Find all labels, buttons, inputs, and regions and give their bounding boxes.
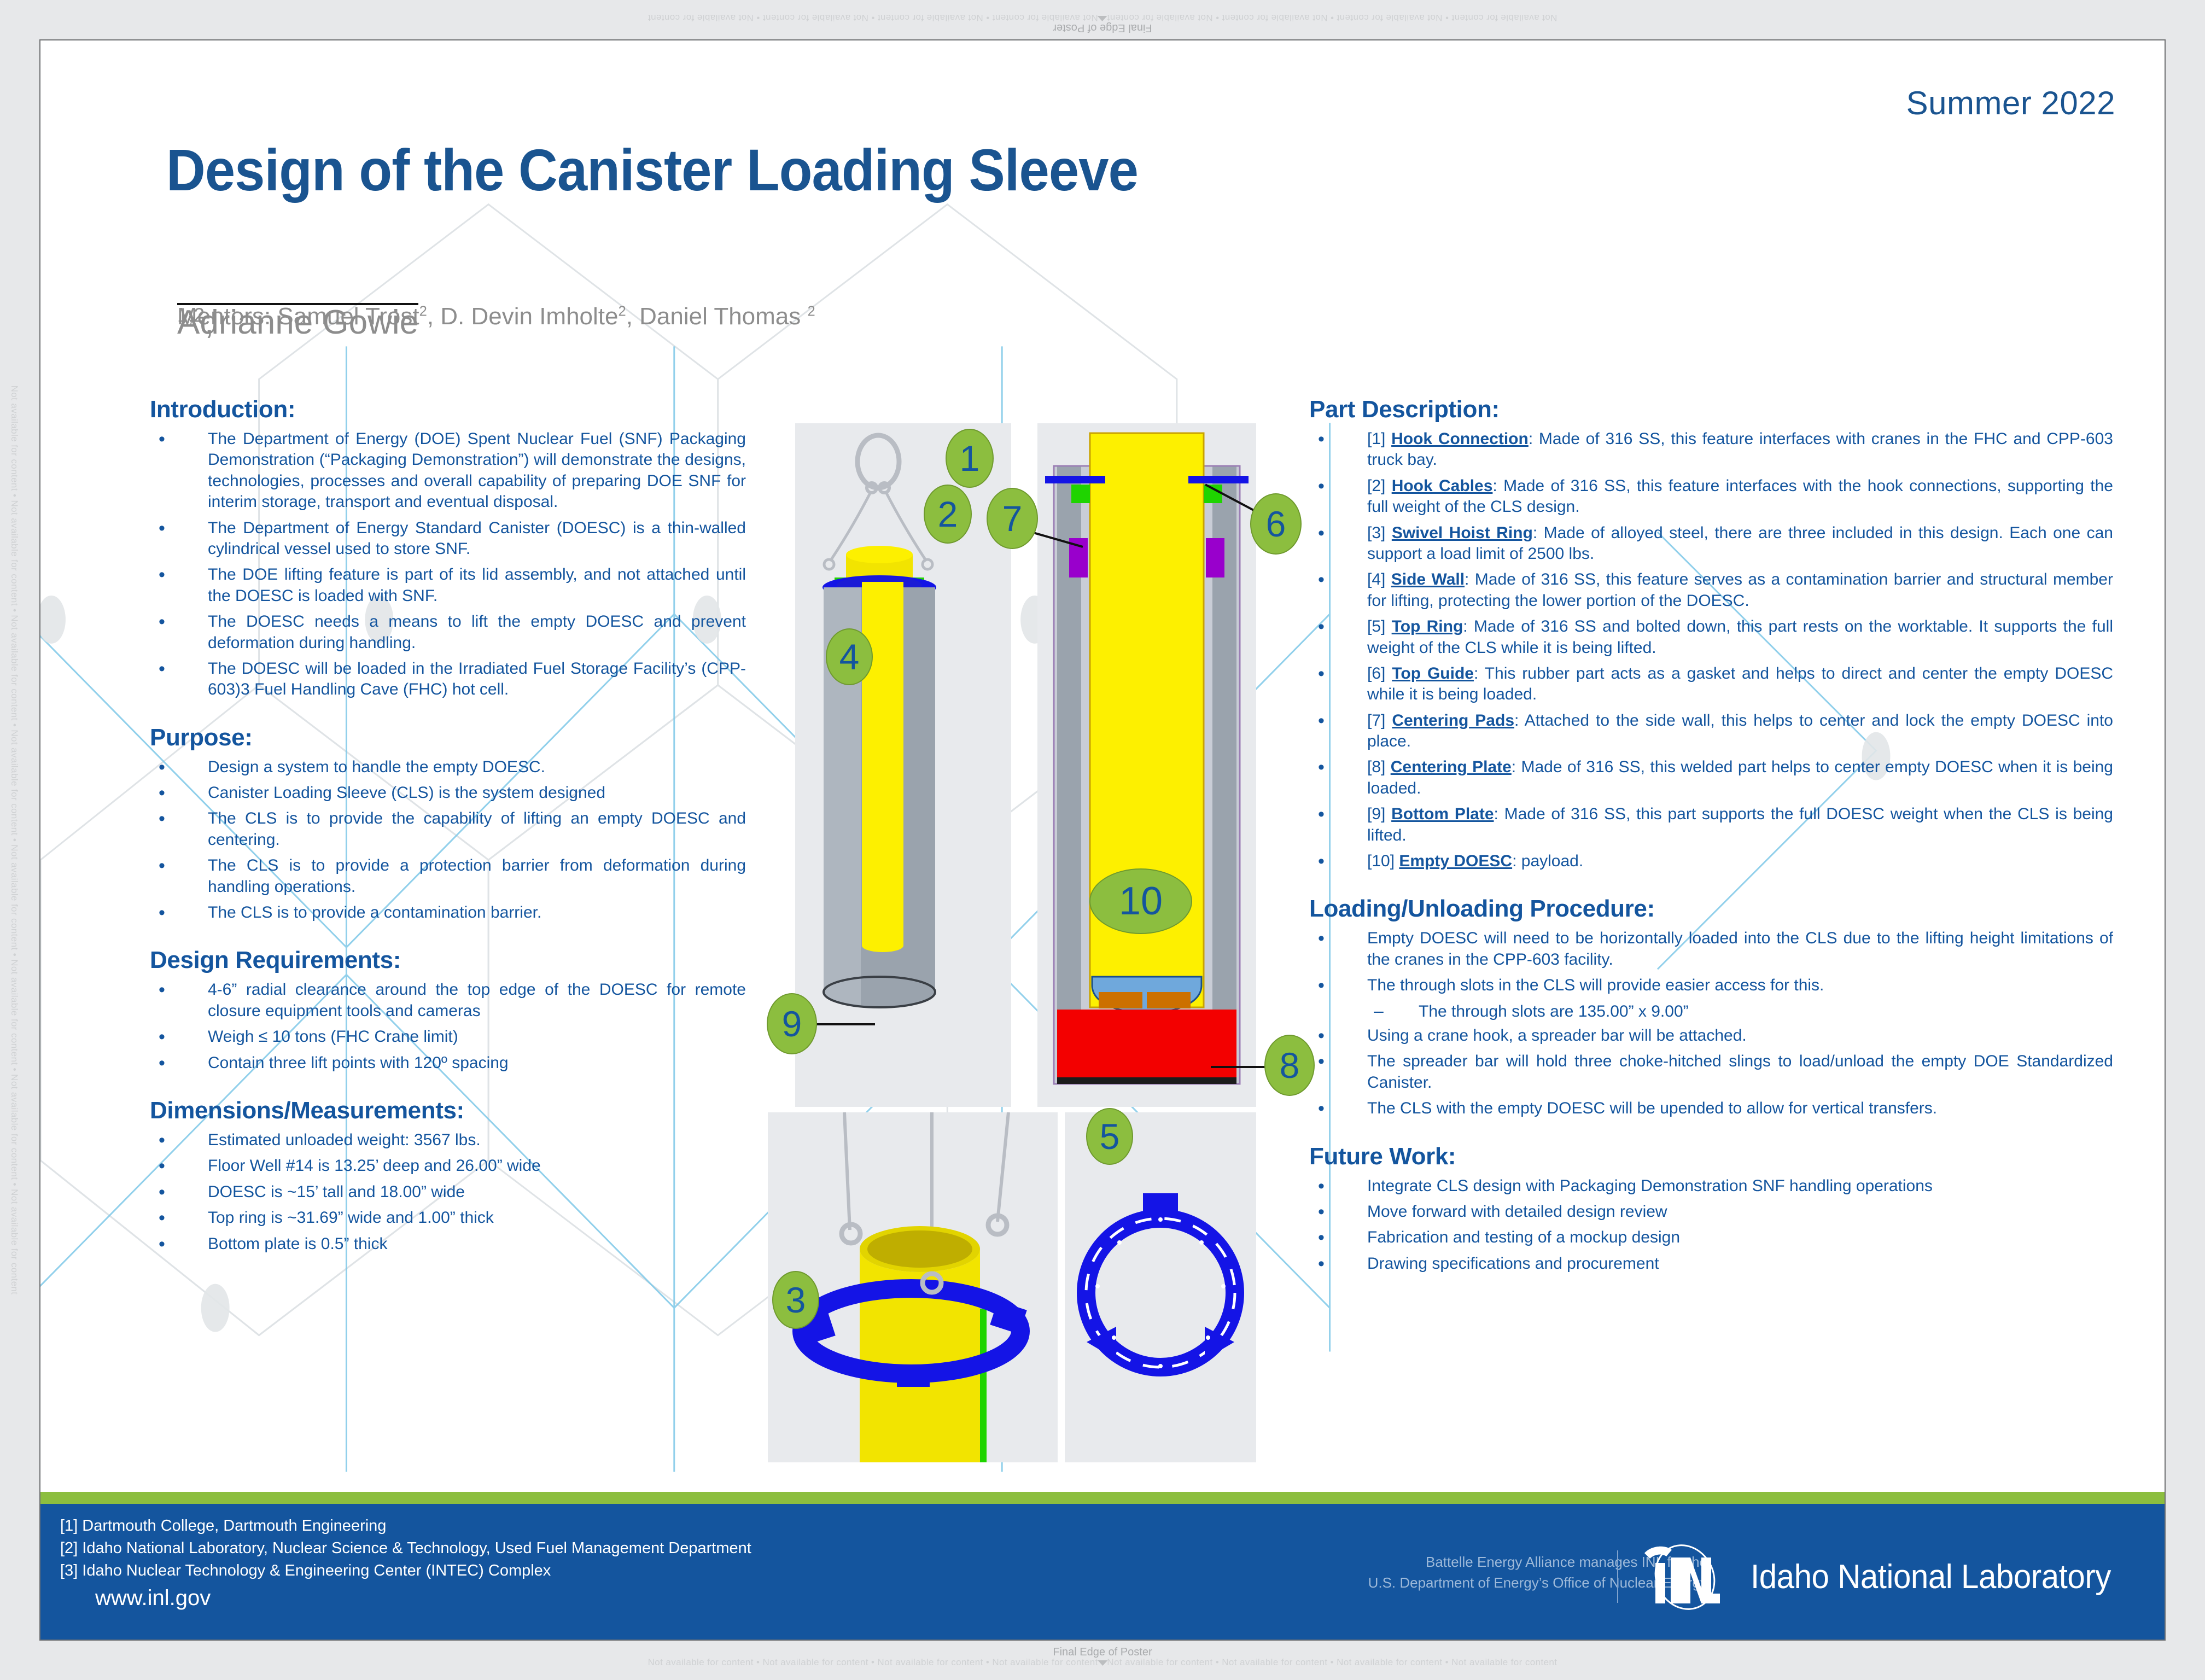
logo-wordmark: Idaho National Laboratory <box>1751 1557 2111 1596</box>
list-item: The DOE lifting feature is part of its l… <box>150 564 746 606</box>
dimensions-list: Estimated unloaded weight: 3567 lbs. Flo… <box>150 1130 746 1255</box>
edge-marker-bottom: Final Edge of Poster <box>1053 1646 1152 1666</box>
part-text: : payload. <box>1512 852 1583 870</box>
poster-footer: [1] Dartmouth College, Dartmouth Enginee… <box>40 1504 2166 1640</box>
dimensions-heading: Dimensions/Measurements: <box>150 1097 746 1124</box>
part-name: Top Ring <box>1392 617 1463 635</box>
list-item: Contain three lift points with 120º spac… <box>150 1053 746 1074</box>
figure-group: 1 2 3 4 5 6 7 8 9 10 <box>768 418 1304 1468</box>
part-index: [7] <box>1367 711 1392 730</box>
list-item: Fabrication and testing of a mockup desi… <box>1309 1227 2113 1248</box>
callout-8: 8 <box>1264 1035 1315 1096</box>
list-item: Floor Well #14 is 13.25’ deep and 26.00”… <box>150 1156 746 1176</box>
author-affil-sup: 1,2 <box>177 304 205 326</box>
part-name: Hook Connection <box>1391 430 1529 448</box>
callout-5: 5 <box>1086 1108 1133 1165</box>
list-item: The Department of Energy Standard Canist… <box>150 518 746 560</box>
list-item: The DOESC needs a means to lift the empt… <box>150 611 746 654</box>
list-item: The Department of Energy (DOE) Spent Nuc… <box>150 429 746 513</box>
future-work-list: Integrate CLS design with Packaging Demo… <box>1309 1176 2113 1275</box>
list-item: Design a system to handle the empty DOES… <box>150 757 746 778</box>
part-index: [5] <box>1367 617 1392 635</box>
list-item: The spreader bar will hold three choke-h… <box>1309 1051 2113 1093</box>
leader-line-9 <box>816 1023 875 1025</box>
edge-marker-top: Final Edge of Poster <box>1053 14 1152 34</box>
list-item: Move forward with detailed design review <box>1309 1201 2113 1222</box>
affiliation-2: [2] Idaho National Laboratory, Nuclear S… <box>60 1537 751 1560</box>
list-item: [4] Side Wall: Made of 316 SS, this feat… <box>1309 569 2113 611</box>
callout-7: 7 <box>987 488 1038 549</box>
part-index: [6] <box>1367 664 1392 682</box>
callout-10: 10 <box>1089 868 1192 934</box>
poster-frame: Not available for content • Not availabl… <box>0 0 2205 1680</box>
part-name: Centering Plate <box>1391 758 1512 776</box>
figure-iso-assembly <box>795 423 1011 1107</box>
watermark-left: Not available for content • Not availabl… <box>9 0 20 1680</box>
list-item: The through slots in the CLS will provid… <box>1309 975 2113 996</box>
triangle-icon <box>1098 16 1107 21</box>
left-column: Introduction: The Department of Energy (… <box>150 396 746 1259</box>
list-item: Using a crane hook, a spreader bar will … <box>1309 1025 2113 1046</box>
list-item: Integrate CLS design with Packaging Demo… <box>1309 1176 2113 1197</box>
list-item: Bottom plate is 0.5” thick <box>150 1234 746 1255</box>
part-index: [2] <box>1367 477 1392 495</box>
purpose-heading: Purpose: <box>150 724 746 751</box>
list-item: DOESC is ~15’ tall and 18.00” wide <box>150 1182 746 1203</box>
cad-section-view <box>1037 423 1256 1107</box>
website-link[interactable]: www.inl.gov <box>95 1586 211 1611</box>
part-text: : Made of 316 SS and bolted down, this p… <box>1367 617 2113 656</box>
callout-1: 1 <box>946 429 994 488</box>
figure-top-ring-plan <box>1065 1112 1256 1462</box>
list-item: The through slots are 135.00” x 9.00” <box>1309 1001 2113 1022</box>
part-name: Empty DOESC <box>1399 852 1512 870</box>
leader-line-8 <box>1211 1066 1271 1068</box>
poster-canvas: Summer 2022 Design of the Canister Loadi… <box>39 39 2166 1641</box>
part-name: Centering Pads <box>1392 711 1514 730</box>
part-name: Hook Cables <box>1392 477 1493 495</box>
cad-iso-view <box>795 423 1011 1107</box>
future-work-heading: Future Work: <box>1309 1143 2113 1170</box>
part-text: : This rubber part acts as a gasket and … <box>1367 664 2113 703</box>
list-item: The CLS is to provide the capability of … <box>150 808 746 850</box>
introduction-heading: Introduction: <box>150 396 746 423</box>
design-requirements-heading: Design Requirements: <box>150 947 746 974</box>
affiliation-1: [1] Dartmouth College, Dartmouth Enginee… <box>60 1515 751 1537</box>
list-item: The CLS with the empty DOESC will be upe… <box>1309 1098 2113 1119</box>
list-item: Weigh ≤ 10 tons (FHC Crane limit) <box>150 1026 746 1047</box>
list-item: [2] Hook Cables: Made of 316 SS, this fe… <box>1309 476 2113 518</box>
list-item: Drawing specifications and procurement <box>1309 1253 2113 1274</box>
list-item: [3] Swivel Hoist Ring: Made of alloyed s… <box>1309 523 2113 565</box>
inl-mark-icon <box>1632 1541 1736 1612</box>
part-text: : Made of 316 SS, this feature serves as… <box>1367 570 2113 609</box>
affiliation-3: [3] Idaho Nuclear Technology & Engineeri… <box>60 1560 751 1582</box>
callout-3: 3 <box>772 1271 819 1329</box>
season-label: Summer 2022 <box>1906 84 2115 122</box>
part-name: Top Guide <box>1392 664 1474 682</box>
callout-2: 2 <box>924 485 972 544</box>
part-description-list: [1] Hook Connection: Made of 316 SS, thi… <box>1309 429 2113 872</box>
list-item: Canister Loading Sleeve (CLS) is the sys… <box>150 783 746 803</box>
list-item: 4-6” radial clearance around the top edg… <box>150 979 746 1022</box>
callout-6: 6 <box>1250 493 1302 555</box>
list-item: [9] Bottom Plate: Made of 316 SS, this p… <box>1309 804 2113 846</box>
list-item: Top ring is ~31.69” wide and 1.00” thick <box>150 1207 746 1228</box>
callout-9: 9 <box>767 993 817 1054</box>
design-requirements-list: 4-6” radial clearance around the top edg… <box>150 979 746 1074</box>
list-item: The CLS is to provide a protection barri… <box>150 855 746 897</box>
part-name: Side Wall <box>1391 570 1465 588</box>
list-item: [5] Top Ring: Made of 316 SS and bolted … <box>1309 616 2113 658</box>
list-item: Estimated unloaded weight: 3567 lbs. <box>150 1130 746 1151</box>
part-index: [1] <box>1367 430 1391 448</box>
part-index: [3] <box>1367 524 1392 542</box>
part-index: [10] <box>1367 852 1399 870</box>
list-item: [10] Empty DOESC: payload. <box>1309 851 2113 872</box>
affiliations-block: [1] Dartmouth College, Dartmouth Enginee… <box>60 1515 751 1583</box>
loading-procedure-list: Empty DOESC will need to be horizontally… <box>1309 928 2113 996</box>
edge-label-text: Final Edge of Poster <box>1053 22 1152 34</box>
introduction-list: The Department of Energy (DOE) Spent Nuc… <box>150 429 746 701</box>
list-item: The CLS is to provide a contamination ba… <box>150 902 746 923</box>
loading-procedure-sublist: The through slots are 135.00” x 9.00” <box>1309 1001 2113 1022</box>
part-index: [4] <box>1367 570 1391 588</box>
list-item: [8] Centering Plate: Made of 316 SS, thi… <box>1309 757 2113 799</box>
edge-label-text: Final Edge of Poster <box>1053 1646 1152 1658</box>
author-line: Adrianne Gowie1,2, Mentors: Samuel Trost… <box>177 303 815 330</box>
callout-4: 4 <box>826 628 873 685</box>
figure-section-view <box>1037 423 1256 1107</box>
logo-divider <box>1617 1550 1618 1603</box>
right-column: Part Description: [1] Hook Connection: M… <box>1309 396 2113 1279</box>
loading-procedure-heading: Loading/Unloading Procedure: <box>1309 895 2113 923</box>
list-item: The DOESC will be loaded in the Irradiat… <box>150 658 746 701</box>
part-name: Swivel Hoist Ring <box>1392 524 1533 542</box>
inl-logo: Idaho National Laboratory <box>1617 1541 2134 1612</box>
list-item: [7] Centering Pads: Attached to the side… <box>1309 710 2113 752</box>
part-name: Bottom Plate <box>1391 805 1494 823</box>
page-title: Design of the Canister Loading Sleeve <box>166 139 1138 201</box>
list-item: [1] Hook Connection: Made of 316 SS, thi… <box>1309 429 2113 471</box>
list-item: Empty DOESC will need to be horizontally… <box>1309 928 2113 970</box>
part-index: [9] <box>1367 805 1391 823</box>
triangle-icon <box>1098 1660 1107 1666</box>
list-item: [6] Top Guide: This rubber part acts as … <box>1309 663 2113 705</box>
loading-procedure-list-2: Using a crane hook, a spreader bar will … <box>1309 1025 2113 1119</box>
purpose-list: Design a system to handle the empty DOES… <box>150 757 746 924</box>
green-accent-bar <box>40 1492 2166 1504</box>
part-index: [8] <box>1367 758 1391 776</box>
part-description-heading: Part Description: <box>1309 396 2113 423</box>
cad-top-ring-plan <box>1065 1112 1256 1462</box>
